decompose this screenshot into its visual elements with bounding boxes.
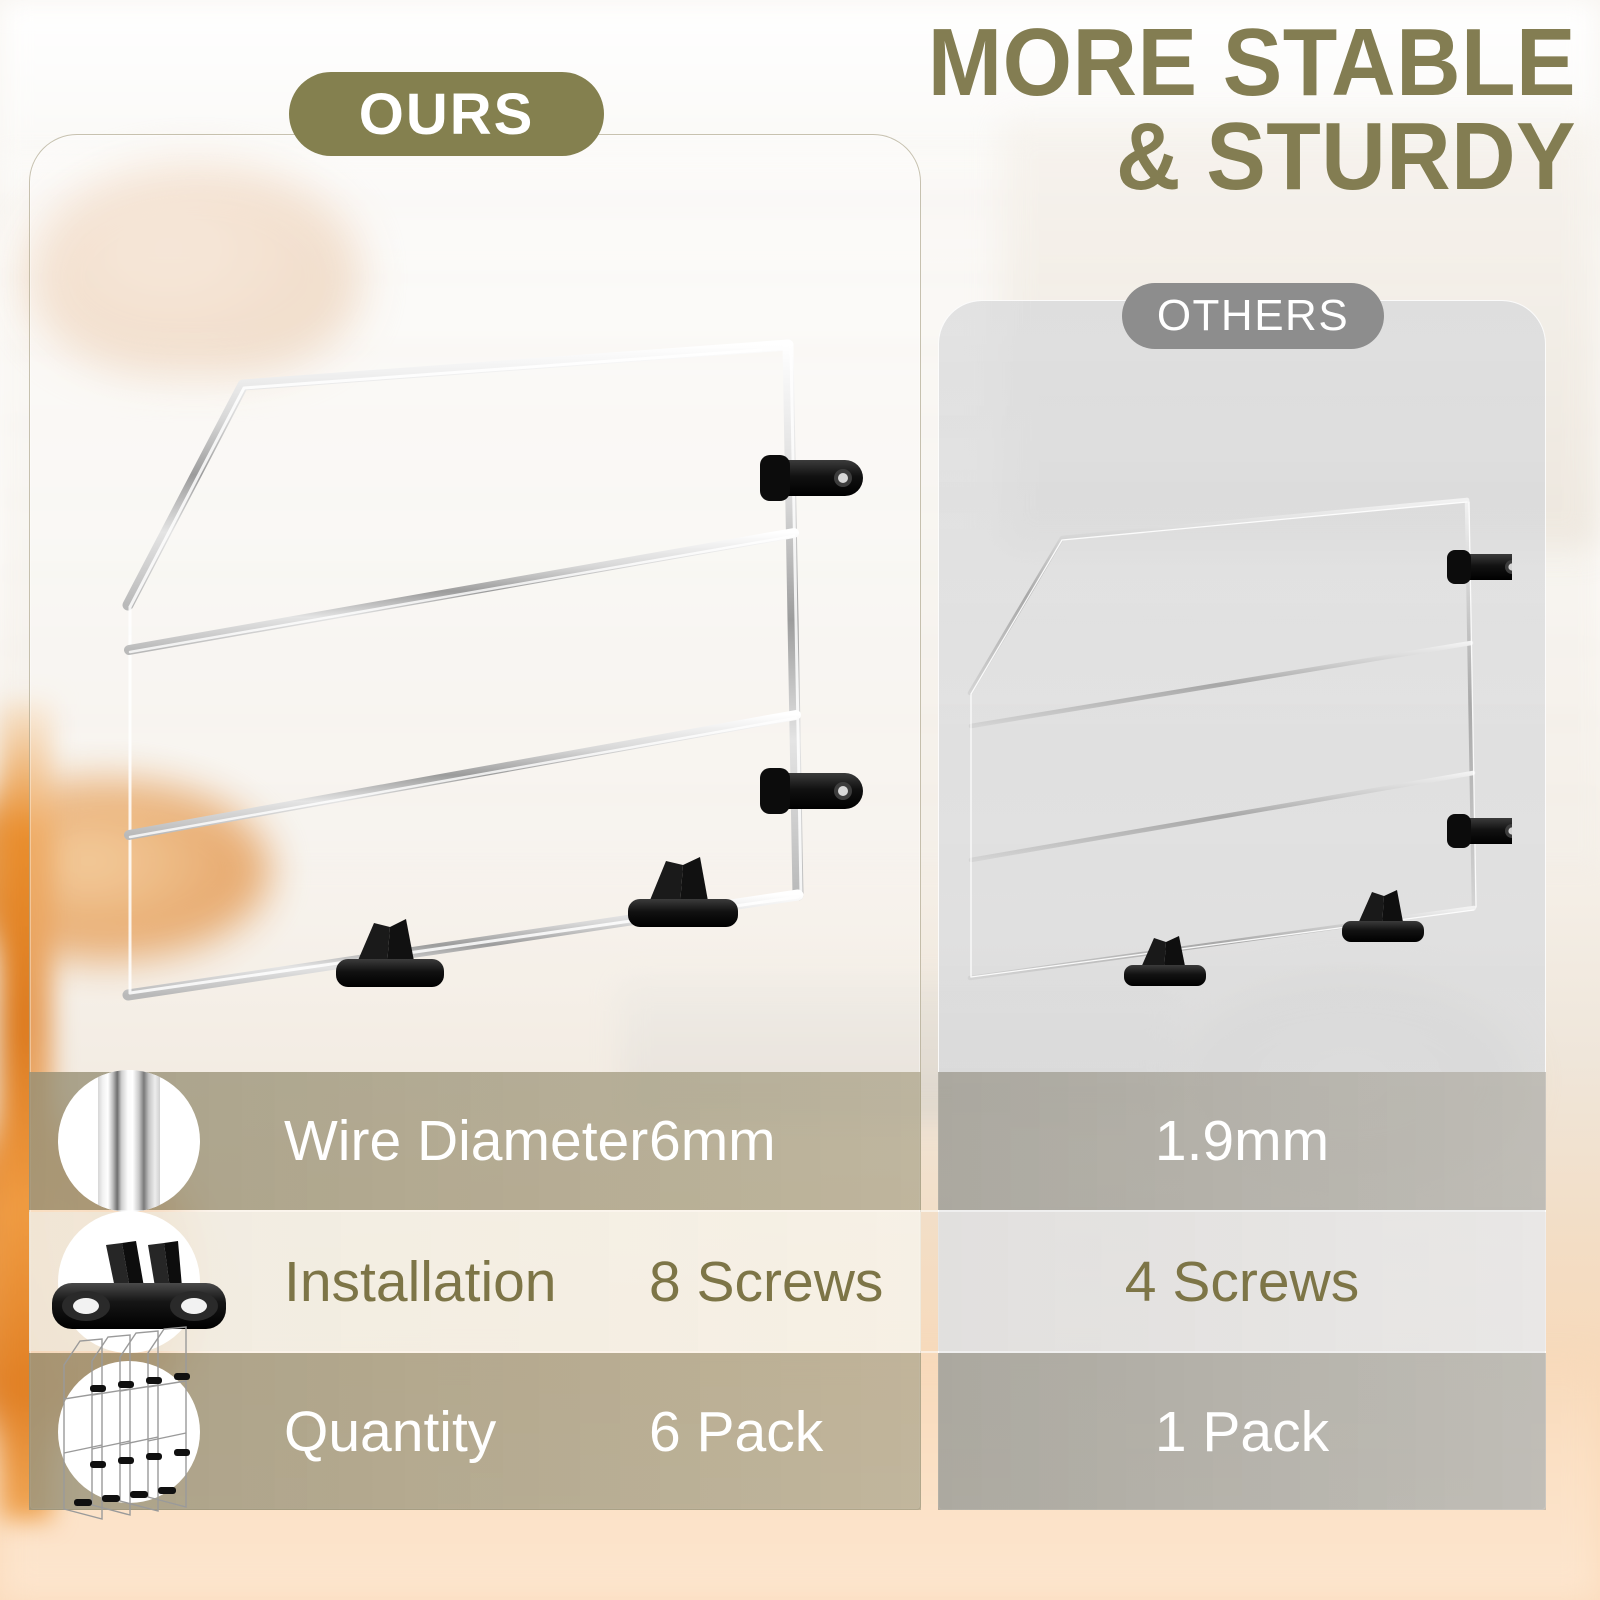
- bracket-right-lower-others: [1447, 814, 1512, 848]
- row-value-others: 1.9mm: [1155, 1108, 1329, 1174]
- page-title: MORE STABLE & STURDY: [928, 16, 1576, 204]
- row-label: Wire Diameter: [284, 1108, 648, 1174]
- stacked-dividers-icon-wrap: [49, 1353, 209, 1510]
- badge-others-label: OTHERS: [1157, 291, 1349, 341]
- row-value-others: 4 Screws: [1125, 1249, 1359, 1315]
- ours-product-image: [108, 305, 898, 1060]
- badge-others: OTHERS: [1122, 283, 1384, 349]
- row-value-others: 1 Pack: [1155, 1399, 1329, 1465]
- bracket-right-upper-others: [1447, 550, 1512, 584]
- wire-rod-icon-wrap: [49, 1072, 209, 1210]
- table-row: Wire Diameter 6mm 1.9mm: [0, 1072, 1600, 1210]
- badge-ours: OURS: [289, 72, 604, 156]
- row-label: Installation: [284, 1249, 557, 1315]
- bracket-bottom-right: [628, 857, 738, 927]
- row-ours-cell: Wire Diameter 6mm: [29, 1072, 921, 1210]
- table-row: Quantity 6 Pack 1 Pack: [0, 1353, 1600, 1510]
- chrome-rod-shape: [98, 1070, 160, 1212]
- row-others-cell: 4 Screws: [938, 1212, 1546, 1351]
- badge-ours-label: OURS: [359, 81, 535, 148]
- others-product-image: [952, 478, 1512, 1018]
- row-value-ours: 6mm: [649, 1108, 776, 1174]
- bracket-bottom-left-others: [1124, 936, 1206, 986]
- row-others-cell: 1.9mm: [938, 1072, 1546, 1210]
- row-value-ours: 8 Screws: [649, 1249, 883, 1315]
- table-row: Installation 8 Screws 4 Screws: [0, 1212, 1600, 1351]
- row-label: Quantity: [284, 1399, 496, 1465]
- row-others-cell: 1 Pack: [938, 1353, 1546, 1510]
- stacked-dividers-icon: [58, 1361, 200, 1503]
- row-value-ours: 6 Pack: [649, 1399, 823, 1465]
- headline-line-1: MORE STABLE: [928, 16, 1576, 110]
- headline-line-2: & STURDY: [928, 110, 1576, 204]
- wire-rod-icon: [58, 1070, 200, 1212]
- row-ours-cell: Quantity 6 Pack: [29, 1353, 921, 1510]
- bracket-right-lower: [760, 768, 863, 814]
- bracket-right-upper: [760, 455, 863, 501]
